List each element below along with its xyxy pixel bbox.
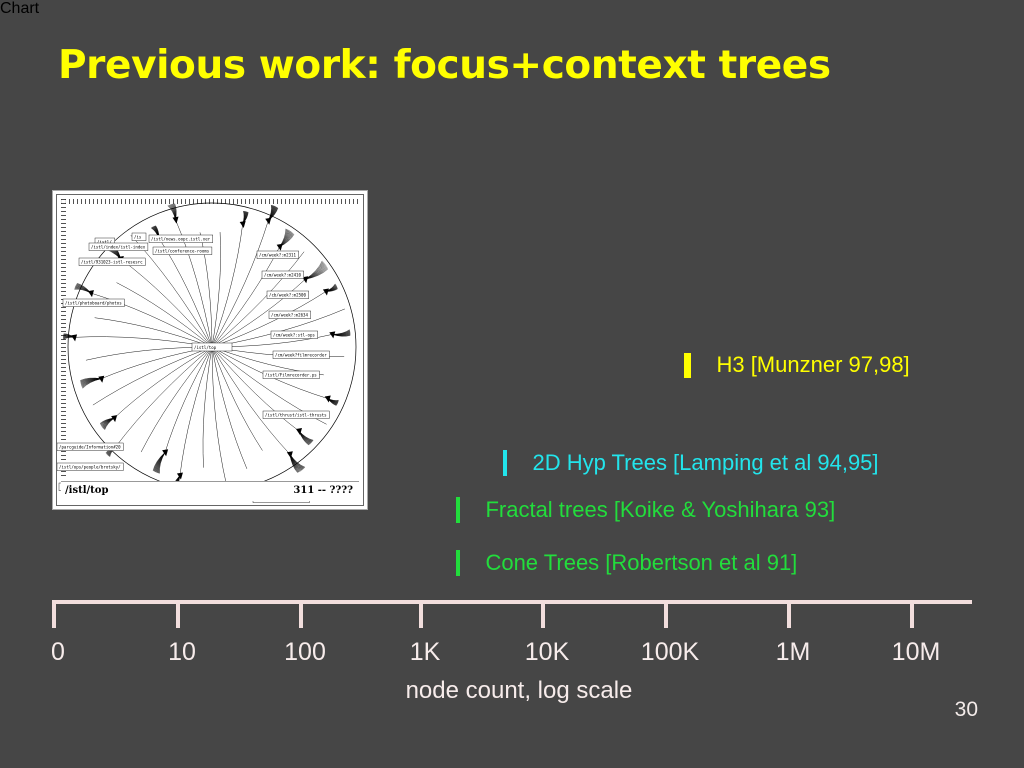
node-count-axis xyxy=(52,600,972,620)
svg-text:/istl/photoboard/photos: /istl/photoboard/photos xyxy=(65,300,122,305)
axis-tick-label: 100 xyxy=(284,638,326,667)
legend-label: Cone Trees [Robertson et al 91] xyxy=(485,550,797,576)
axis-tick xyxy=(176,600,180,628)
svg-text:/cm/week?filmrecorder: /cm/week?filmrecorder xyxy=(275,352,327,357)
axis-tick-label: 1K xyxy=(410,638,441,667)
legend-marker-bar xyxy=(684,353,691,378)
svg-text:/istl/conference-rooms: /istl/conference-rooms xyxy=(155,248,210,253)
legend-item-fractal-trees: Fractal trees [Koike & Yoshihara 93] xyxy=(456,497,835,523)
axis-tick xyxy=(664,600,668,628)
figure-inner-frame: /istl/top/istl//is/istl/news.oopc.istl.x… xyxy=(56,194,364,506)
svg-text:/istl/thrust/istl-thrusts: /istl/thrust/istl-thrusts xyxy=(265,412,327,417)
axis-line xyxy=(52,600,972,604)
figure-status-path: /istl/top xyxy=(65,485,108,496)
legend-label: 2D Hyp Trees [Lamping et al 94,95] xyxy=(532,450,878,476)
axis-tick xyxy=(541,600,545,628)
axis-tick-label: 0 xyxy=(51,638,65,667)
svg-text:/istl/Filmrecorder.ps: /istl/Filmrecorder.ps xyxy=(265,372,317,377)
axis-caption: node count, log scale xyxy=(0,677,1024,705)
hyperbolic-tree-figure: /istl/top/istl//is/istl/news.oopc.istl.x… xyxy=(52,190,368,510)
svg-text:/istl/ops/people/brotsky/: /istl/ops/people/brotsky/ xyxy=(59,464,121,469)
svg-text:/istl/news.oopc.istl.xer: /istl/news.oopc.istl.xer xyxy=(151,236,211,241)
slide-page-number: 30 xyxy=(955,698,978,722)
legend-marker-bar xyxy=(503,450,507,476)
legend-marker-bar xyxy=(456,550,460,576)
legend-label: Fractal trees [Koike & Yoshihara 93] xyxy=(485,497,835,523)
axis-tick-label: 100K xyxy=(641,638,699,667)
legend-label: H3 [Munzner 97,98] xyxy=(716,352,909,378)
svg-text:/istl/index/istl-index: /istl/index/istl-index xyxy=(91,244,146,249)
svg-text:/istl/top: /istl/top xyxy=(194,345,217,350)
axis-tick xyxy=(419,600,423,628)
svg-text:/parcguide/Information#20: /parcguide/Information#20 xyxy=(59,444,121,449)
axis-caption-text: node count, log scale xyxy=(392,677,633,704)
svg-text:/cb/week?:m2500: /cb/week?:m2500 xyxy=(269,292,307,297)
axis-tick xyxy=(910,600,914,628)
legend-marker-bar xyxy=(456,497,460,523)
axis-tick-label: 10K xyxy=(525,638,569,667)
svg-text:/cm/week?:m2634: /cm/week?:m2634 xyxy=(271,312,309,317)
page-title: Previous work: focus+context trees xyxy=(58,43,831,88)
legend-item-2d-hyp-trees: 2D Hyp Trees [Lamping et al 94,95] xyxy=(503,450,879,476)
figure-statusbar: /istl/top 311 -- ???? xyxy=(61,481,359,501)
axis-tick xyxy=(787,600,791,628)
axis-tick-label: 10 xyxy=(168,638,196,667)
tree-graph-canvas: /istl/top/istl//is/istl/news.oopc.istl.x… xyxy=(57,195,364,505)
svg-text:/cm/week?:m2410: /cm/week?:m2410 xyxy=(264,272,302,277)
axis-tick xyxy=(52,600,56,628)
figure-status-count: 311 -- ???? xyxy=(293,485,353,496)
axis-tick xyxy=(299,600,303,628)
svg-text:/is: /is xyxy=(134,234,142,239)
axis-tick-label: 1M xyxy=(776,638,811,667)
svg-text:/cm/week?:stl-ops: /cm/week?:stl-ops xyxy=(273,332,315,337)
svg-text:/istl/931023-istl-resesrc: /istl/931023-istl-resesrc xyxy=(81,259,143,264)
svg-text:/cm/week?:m2311: /cm/week?:m2311 xyxy=(259,252,297,257)
legend-item-cone-trees: Cone Trees [Robertson et al 91] xyxy=(456,550,797,576)
axis-tick-label: 10M xyxy=(892,638,941,667)
legend-item-h3: H3 [Munzner 97,98] xyxy=(684,352,910,378)
